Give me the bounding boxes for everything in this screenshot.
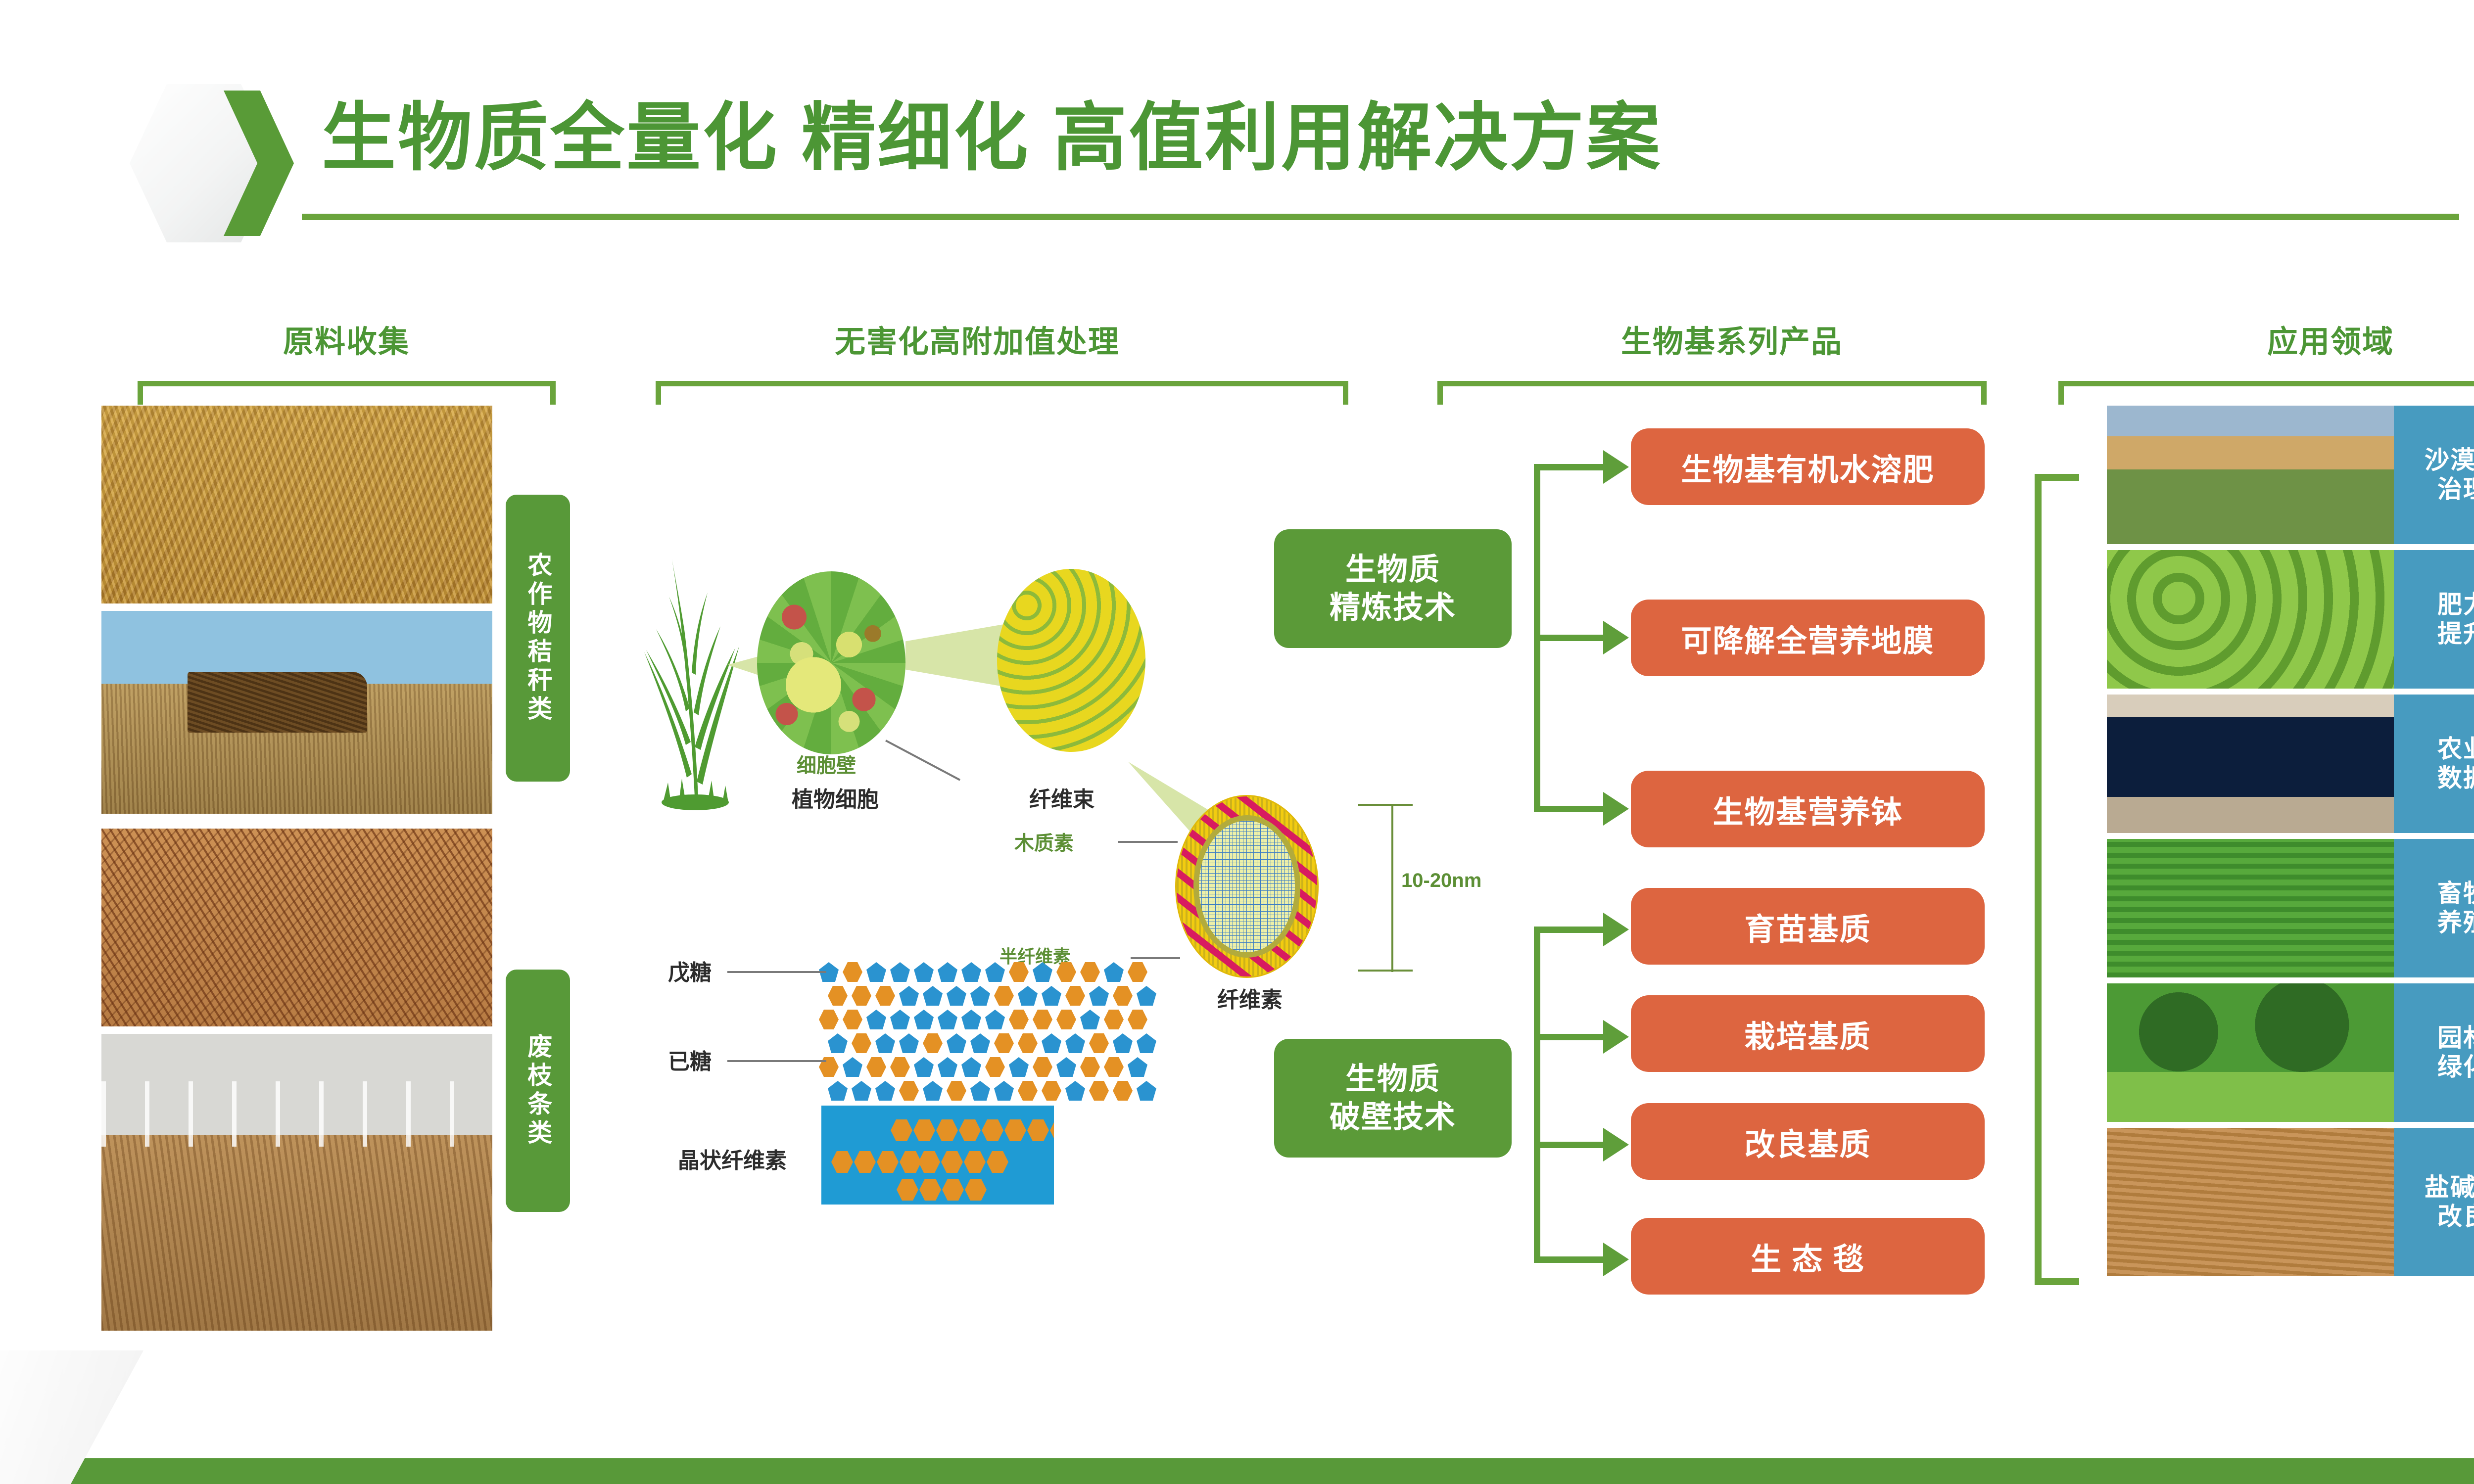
- flow-branch-wb-2: [1534, 1034, 1603, 1040]
- crystal-unit: [877, 1151, 899, 1173]
- sugar-unit: [961, 962, 981, 982]
- sugar-unit: [875, 1033, 895, 1053]
- section-header-processing: 无害化高附加值处理: [618, 317, 1336, 361]
- flow-branch-refining-2: [1534, 635, 1603, 641]
- sugar-unit: [899, 1081, 919, 1101]
- sugar-unit: [914, 1057, 934, 1077]
- application-row-saline[interactable]: 盐碱地 改良: [2107, 1128, 2474, 1276]
- sugar-unit: [985, 1010, 1005, 1029]
- crystal-unit: [900, 1151, 921, 1173]
- title-divider: [302, 214, 2459, 220]
- leader-line-hemicellulose: [1131, 957, 1180, 959]
- sugar-unit: [1065, 986, 1085, 1006]
- sugar-unit: [947, 1081, 966, 1101]
- flow-branch-refining-1: [1534, 464, 1603, 470]
- sugar-unit: [890, 1057, 910, 1077]
- sugar-unit: [890, 1010, 910, 1029]
- page-title: 生物质全量化 精细化 高值利用解决方案: [322, 92, 1662, 185]
- sugar-unit: [1018, 1033, 1038, 1053]
- crystal-unit: [854, 1151, 876, 1173]
- crystal-unit: [936, 1119, 958, 1141]
- product-pill-eco-blanket[interactable]: 生 态 毯: [1631, 1218, 1985, 1295]
- sugar-unit: [1009, 1057, 1029, 1077]
- flow-arrow-wb-4: [1603, 1243, 1629, 1276]
- sugar-unit: [1113, 986, 1133, 1006]
- sugar-unit: [828, 986, 848, 1006]
- crystal-unit: [913, 1119, 935, 1141]
- sugar-unit: [1113, 1033, 1133, 1053]
- sugar-unit: [970, 986, 990, 1006]
- crystal-unit: [941, 1151, 963, 1173]
- sugar-unit: [1065, 1081, 1085, 1101]
- dimension-line: [1391, 804, 1393, 972]
- desert-control-photo: [2107, 406, 2394, 544]
- sugar-unit: [961, 1010, 981, 1029]
- crystal-unit: [964, 1151, 986, 1173]
- application-row-fertility[interactable]: 肥力 提升: [2107, 550, 2474, 689]
- sugar-unit: [1104, 962, 1124, 982]
- flow-arrow-wb-2: [1603, 1020, 1629, 1054]
- sugar-unit: [890, 962, 910, 982]
- sugar-unit: [866, 1010, 886, 1029]
- application-label-agridata-line2: 数据: [2437, 764, 2474, 793]
- crystal-unit: [1027, 1119, 1049, 1141]
- product-pill-biodegradable-mulch[interactable]: 可降解全营养地膜: [1631, 600, 1985, 676]
- product-pill-improvement-substrate[interactable]: 改良基质: [1631, 1103, 1985, 1180]
- sugar-unit: [923, 1081, 943, 1101]
- application-label-livestock-line2: 养殖: [2437, 908, 2474, 937]
- fiber-bundle-illustration: [997, 569, 1145, 752]
- sugar-unit: [923, 1033, 943, 1053]
- crystal-unit: [965, 1179, 987, 1201]
- crystal-unit: [918, 1151, 940, 1173]
- crystal-unit: [982, 1119, 1003, 1141]
- sugar-unit: [1009, 1010, 1029, 1029]
- data-control-room-photo: [2107, 695, 2394, 833]
- product-pill-cultivation-substrate[interactable]: 栽培基质: [1631, 995, 1985, 1072]
- landscape-trees-photo: [2107, 983, 2394, 1122]
- sugar-unit: [843, 1010, 862, 1029]
- crystal-unit: [1004, 1119, 1026, 1141]
- sugar-unit: [947, 986, 966, 1006]
- label-cellulose: 纤维素: [1217, 982, 1283, 1014]
- section-header-applications: 应用领域: [2118, 317, 2474, 361]
- bracket-processing: [656, 381, 1348, 405]
- sugar-unit: [1137, 1033, 1156, 1053]
- sugar-unit: [1128, 1057, 1147, 1077]
- corn-straw-photo: [101, 406, 492, 603]
- crystal-unit: [987, 1151, 1008, 1173]
- flow-trunk-wall-breaking: [1534, 927, 1540, 1263]
- crystal-unit: [919, 1179, 941, 1201]
- leader-line-lignin: [1118, 841, 1178, 843]
- sugar-unit: [1042, 986, 1061, 1006]
- sugar-unit: [938, 1010, 957, 1029]
- flow-arrow-refining-1: [1603, 450, 1629, 484]
- sugar-unit: [1033, 962, 1052, 982]
- zoom-cone-cell-to-fiber: [905, 623, 1009, 688]
- flow-arrow-refining-2: [1603, 621, 1629, 654]
- application-label-fertility-line1: 肥力: [2437, 590, 2474, 619]
- sugar-unit: [852, 986, 871, 1006]
- application-label-fertility: 肥力 提升: [2394, 550, 2474, 689]
- sugar-unit: [1104, 1010, 1124, 1029]
- sugar-unit: [828, 1033, 848, 1053]
- application-label-desert-line1: 沙漠化: [2425, 446, 2474, 475]
- flow-arrow-wb-1: [1603, 913, 1629, 946]
- application-label-landscaping: 园林 绿化: [2394, 983, 2474, 1122]
- sugar-unit: [875, 986, 895, 1006]
- crystal-unit: [891, 1119, 912, 1141]
- product-pill-organic-fertilizer[interactable]: 生物基有机水溶肥: [1631, 428, 1985, 505]
- sugar-unit: [1056, 1057, 1076, 1077]
- sugar-unit: [1089, 986, 1109, 1006]
- application-row-agridata[interactable]: 农业 数据: [2107, 695, 2474, 833]
- sugar-unit: [1113, 1081, 1133, 1101]
- flow-arrow-wb-3: [1603, 1128, 1629, 1161]
- label-fiber-bundle: 纤维束: [1029, 782, 1094, 813]
- product-pill-seedling-substrate[interactable]: 育苗基质: [1631, 888, 1985, 965]
- sugar-unit: [1128, 1010, 1147, 1029]
- bracket-applications: [2058, 381, 2474, 405]
- bottom-accent-bar: [0, 1458, 2474, 1484]
- sugar-unit: [1042, 1033, 1061, 1053]
- slide-canvas: 生物质全量化 精细化 高值利用解决方案 原料收集 无害化高附加值处理 生物基系列…: [0, 0, 2474, 1484]
- sugar-unit: [1080, 1010, 1100, 1029]
- sugar-unit: [985, 1057, 1005, 1077]
- sugar-unit: [899, 1033, 919, 1053]
- application-label-desert-line2: 治理: [2437, 475, 2474, 504]
- bracket-raw-collection: [138, 381, 556, 405]
- sugar-unit: [852, 1033, 871, 1053]
- cellulose-core: [1198, 820, 1296, 953]
- leader-line-hexose: [727, 1060, 826, 1062]
- label-pentose: 戊糖: [668, 955, 712, 986]
- sugar-unit: [985, 962, 1005, 982]
- crystal-unit: [831, 1151, 853, 1173]
- sugar-unit: [1056, 1010, 1076, 1029]
- application-label-landscaping-line2: 绿化: [2437, 1053, 2474, 1082]
- sugar-unit: [914, 962, 934, 982]
- flow-arrow-refining-3: [1603, 792, 1629, 826]
- sheep-grazing-photo: [2107, 839, 2394, 977]
- tech-box-refining[interactable]: 生物质 精炼技术: [1274, 529, 1512, 648]
- sugar-unit: [1080, 962, 1100, 982]
- tech-box-refining-line2: 精炼技术: [1330, 589, 1456, 627]
- sugar-unit: [866, 962, 886, 982]
- sugar-unit: [1089, 1081, 1109, 1101]
- sugar-unit: [1104, 1057, 1124, 1077]
- label-hexose: 已糖: [668, 1044, 712, 1075]
- tech-box-wall-breaking-line1: 生物质: [1345, 1060, 1440, 1099]
- sugar-unit: [1033, 1010, 1052, 1029]
- sugar-unit: [970, 1033, 990, 1053]
- sugar-unit: [994, 1081, 1014, 1101]
- sugar-unit: [1080, 1057, 1100, 1077]
- crystal-unit: [959, 1119, 981, 1141]
- label-plant-cell: 植物细胞: [792, 782, 879, 813]
- tech-box-wall-breaking[interactable]: 生物质 破壁技术: [1274, 1039, 1512, 1158]
- pruned-branches-photo: [101, 829, 492, 1026]
- sugar-unit: [875, 1081, 895, 1101]
- label-lignin: 木质素: [1014, 827, 1074, 856]
- tech-box-wall-breaking-line2: 破壁技术: [1330, 1098, 1456, 1137]
- sugar-unit: [1042, 1081, 1061, 1101]
- application-label-saline-line2: 改良: [2437, 1202, 2474, 1231]
- sugar-unit: [899, 986, 919, 1006]
- sugar-unit: [914, 1010, 934, 1029]
- tech-box-refining-line1: 生物质: [1345, 551, 1440, 589]
- application-label-saline: 盐碱地 改良: [2394, 1128, 2474, 1276]
- sugar-unit: [843, 962, 862, 982]
- flow-branch-wb-1: [1534, 927, 1603, 933]
- flow-branch-wb-4: [1534, 1256, 1603, 1263]
- sugar-unit: [828, 1081, 848, 1101]
- application-label-saline-line1: 盐碱地: [2425, 1173, 2474, 1202]
- label-crystalline-cellulose: 晶状纤维素: [678, 1143, 787, 1174]
- dimension-tick-bottom: [1358, 970, 1413, 972]
- plant-cell-illustration: [757, 571, 905, 754]
- application-label-agridata: 农业 数据: [2394, 695, 2474, 833]
- fiber-cross-section-illustration: [1175, 795, 1319, 978]
- application-label-livestock-line1: 畜牧: [2437, 879, 2474, 908]
- flow-branch-refining-3: [1534, 806, 1603, 812]
- application-label-desert: 沙漠化 治理: [2394, 406, 2474, 544]
- sugar-unit: [923, 986, 943, 1006]
- sugar-unit: [1089, 1033, 1109, 1053]
- application-row-desert[interactable]: 沙漠化 治理: [2107, 406, 2474, 544]
- application-row-landscaping[interactable]: 园林 绿化: [2107, 983, 2474, 1122]
- sugar-unit: [961, 1057, 981, 1077]
- application-label-landscaping-line1: 园林: [2437, 1023, 2474, 1053]
- sugar-unit: [970, 1081, 990, 1101]
- category-tag-crop-straw: 农作物秸秆类: [506, 495, 570, 782]
- sugar-unit: [1128, 962, 1147, 982]
- leader-line-pentose: [727, 971, 826, 973]
- flow-branch-wb-3: [1534, 1142, 1603, 1148]
- sugar-unit: [994, 986, 1014, 1006]
- straw-bale-field-photo: [101, 611, 492, 814]
- sugar-unit: [938, 1057, 957, 1077]
- sugar-unit: [947, 1033, 966, 1053]
- sugar-unit: [1065, 1033, 1085, 1053]
- sugar-unit: [852, 1081, 871, 1101]
- sugar-unit: [994, 1033, 1014, 1053]
- sugar-unit: [1018, 1081, 1038, 1101]
- application-label-livestock: 畜牧 养殖: [2394, 839, 2474, 977]
- product-pill-nutrient-pot[interactable]: 生物基营养钵: [1631, 771, 1985, 847]
- plant-silhouette-icon: [633, 549, 757, 811]
- application-row-livestock[interactable]: 畜牧 养殖: [2107, 839, 2474, 977]
- dimension-tick-top: [1358, 804, 1413, 806]
- section-header-products: 生物基系列产品: [1425, 317, 2039, 361]
- sugar-unit: [843, 1057, 862, 1077]
- sugar-unit: [1018, 986, 1038, 1006]
- sugar-unit: [1137, 1081, 1156, 1101]
- sugar-unit: [1056, 962, 1076, 982]
- section-header-raw-collection: 原料收集: [148, 317, 544, 361]
- bracket-applications-group: [2035, 474, 2079, 1285]
- sugar-chain-diagram: [819, 962, 1160, 1111]
- sugar-unit: [938, 962, 957, 982]
- sugar-unit: [1009, 962, 1029, 982]
- label-cell-wall: 细胞壁: [797, 749, 856, 778]
- sugar-unit: [819, 1010, 839, 1029]
- crystal-unit: [1050, 1119, 1054, 1141]
- orchard-pruning-photo: [101, 1034, 492, 1331]
- application-label-fertility-line2: 提升: [2437, 619, 2474, 649]
- crystal-unit: [897, 1179, 918, 1201]
- crystal-unit: [942, 1179, 964, 1201]
- sugar-unit: [866, 1057, 886, 1077]
- saline-soil-photo: [2107, 1128, 2394, 1276]
- cabbage-field-photo: [2107, 550, 2394, 689]
- label-dimension-10-20nm: 10-20nm: [1401, 870, 1481, 892]
- sugar-unit: [1137, 986, 1156, 1006]
- crystalline-cellulose-diagram: [821, 1106, 1054, 1205]
- leader-line-cellwall: [885, 740, 960, 781]
- sugar-unit: [1033, 1057, 1052, 1077]
- application-label-agridata-line1: 农业: [2437, 735, 2474, 764]
- category-tag-waste-branches: 废枝条类: [506, 970, 570, 1212]
- bracket-products: [1437, 381, 1987, 405]
